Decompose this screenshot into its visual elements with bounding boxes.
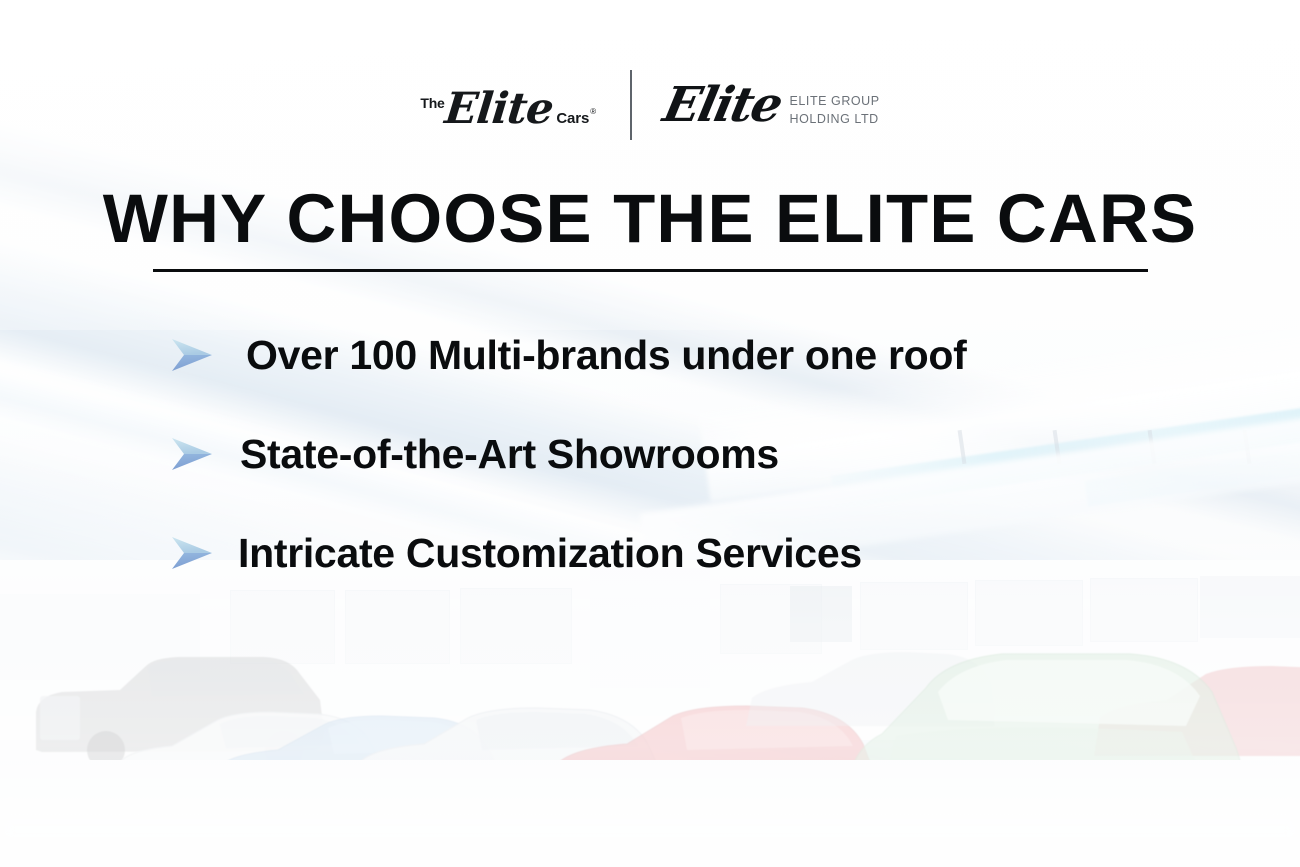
list-item: Over 100 Multi-brands under one roof [170,324,1230,386]
list-item-label: State-of-the-Art Showrooms [240,434,779,475]
slide-content: The Elite Cars ® Elite ELITE GROUP HOLDI… [0,0,1300,867]
elite-group-holding-logo: Elite ELITE GROUP HOLDING LTD [632,83,880,131]
logo-cars-text: Cars [556,111,589,126]
list-item: Intricate Customization Services [170,522,1230,584]
title-underline [153,269,1148,272]
elite-group-line1: ELITE GROUP [790,93,880,111]
registered-mark-icon: ® [590,107,596,116]
page-title: WHY CHOOSE THE ELITE CARS [0,184,1300,253]
arrow-bullet-icon [170,434,214,474]
logo-the-text: The [420,96,444,110]
logo-vertical-divider [630,70,632,140]
list-item: State-of-the-Art Showrooms [170,423,1230,485]
elite-group-wordmark: ELITE GROUP HOLDING LTD [790,93,880,129]
elite-group-line2: HOLDING LTD [790,111,880,129]
the-elite-cars-logo: The Elite Cars ® [420,86,630,129]
elite-script-mark: Elite [659,81,785,129]
logo-elite-script: Elite [442,88,554,131]
list-item-label: Intricate Customization Services [238,533,862,574]
slide-root: The Elite Cars ® Elite ELITE GROUP HOLDI… [0,0,1300,867]
arrow-bullet-icon [170,533,214,573]
list-item-label: Over 100 Multi-brands under one roof [246,335,966,376]
benefits-list: Over 100 Multi-brands under one roof Sta… [170,324,1230,584]
logo-row: The Elite Cars ® Elite ELITE GROUP HOLDI… [0,72,1300,142]
arrow-bullet-icon [170,335,214,375]
